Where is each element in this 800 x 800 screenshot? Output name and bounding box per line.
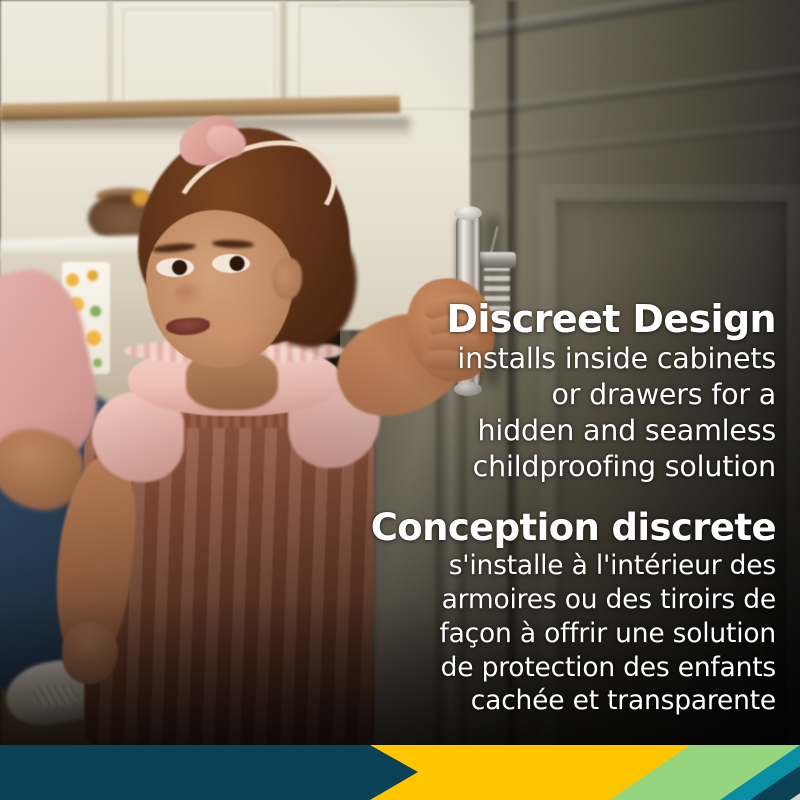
subcopy-line: de protection des enfants bbox=[346, 651, 776, 685]
brand-bar-graphic bbox=[0, 745, 800, 800]
brand-color-bar bbox=[0, 745, 800, 800]
copy-block-english: Discreet Design installs inside cabinets… bbox=[346, 300, 776, 485]
copy-block-french: Conception discrete s'installe à l'intér… bbox=[346, 509, 776, 719]
subcopy-line: hidden and seamless bbox=[346, 413, 776, 449]
marketing-image-canvas: Discreet Design installs inside cabinets… bbox=[0, 0, 800, 800]
subcopy-line: or drawers for a bbox=[346, 377, 776, 413]
subcopy-line: armoires ou des tiroirs de bbox=[346, 583, 776, 617]
subcopy-line: childproofing solution bbox=[346, 449, 776, 485]
marketing-copy: Discreet Design installs inside cabinets… bbox=[346, 300, 776, 718]
brand-bar-dark-teal-chevron bbox=[0, 745, 418, 800]
subcopy-line: s'installe à l'intérieur des bbox=[346, 549, 776, 583]
headline-english: Discreet Design bbox=[346, 300, 776, 339]
headline-french: Conception discrete bbox=[346, 509, 776, 547]
subcopy-line: installs inside cabinets bbox=[346, 341, 776, 377]
subcopy-english: installs inside cabinets or drawers for … bbox=[346, 341, 776, 485]
subcopy-french: s'installe à l'intérieur des armoires ou… bbox=[346, 549, 776, 719]
subcopy-line: cachée et transparente bbox=[346, 684, 776, 718]
subcopy-line: façon à offrir une solution bbox=[346, 617, 776, 651]
